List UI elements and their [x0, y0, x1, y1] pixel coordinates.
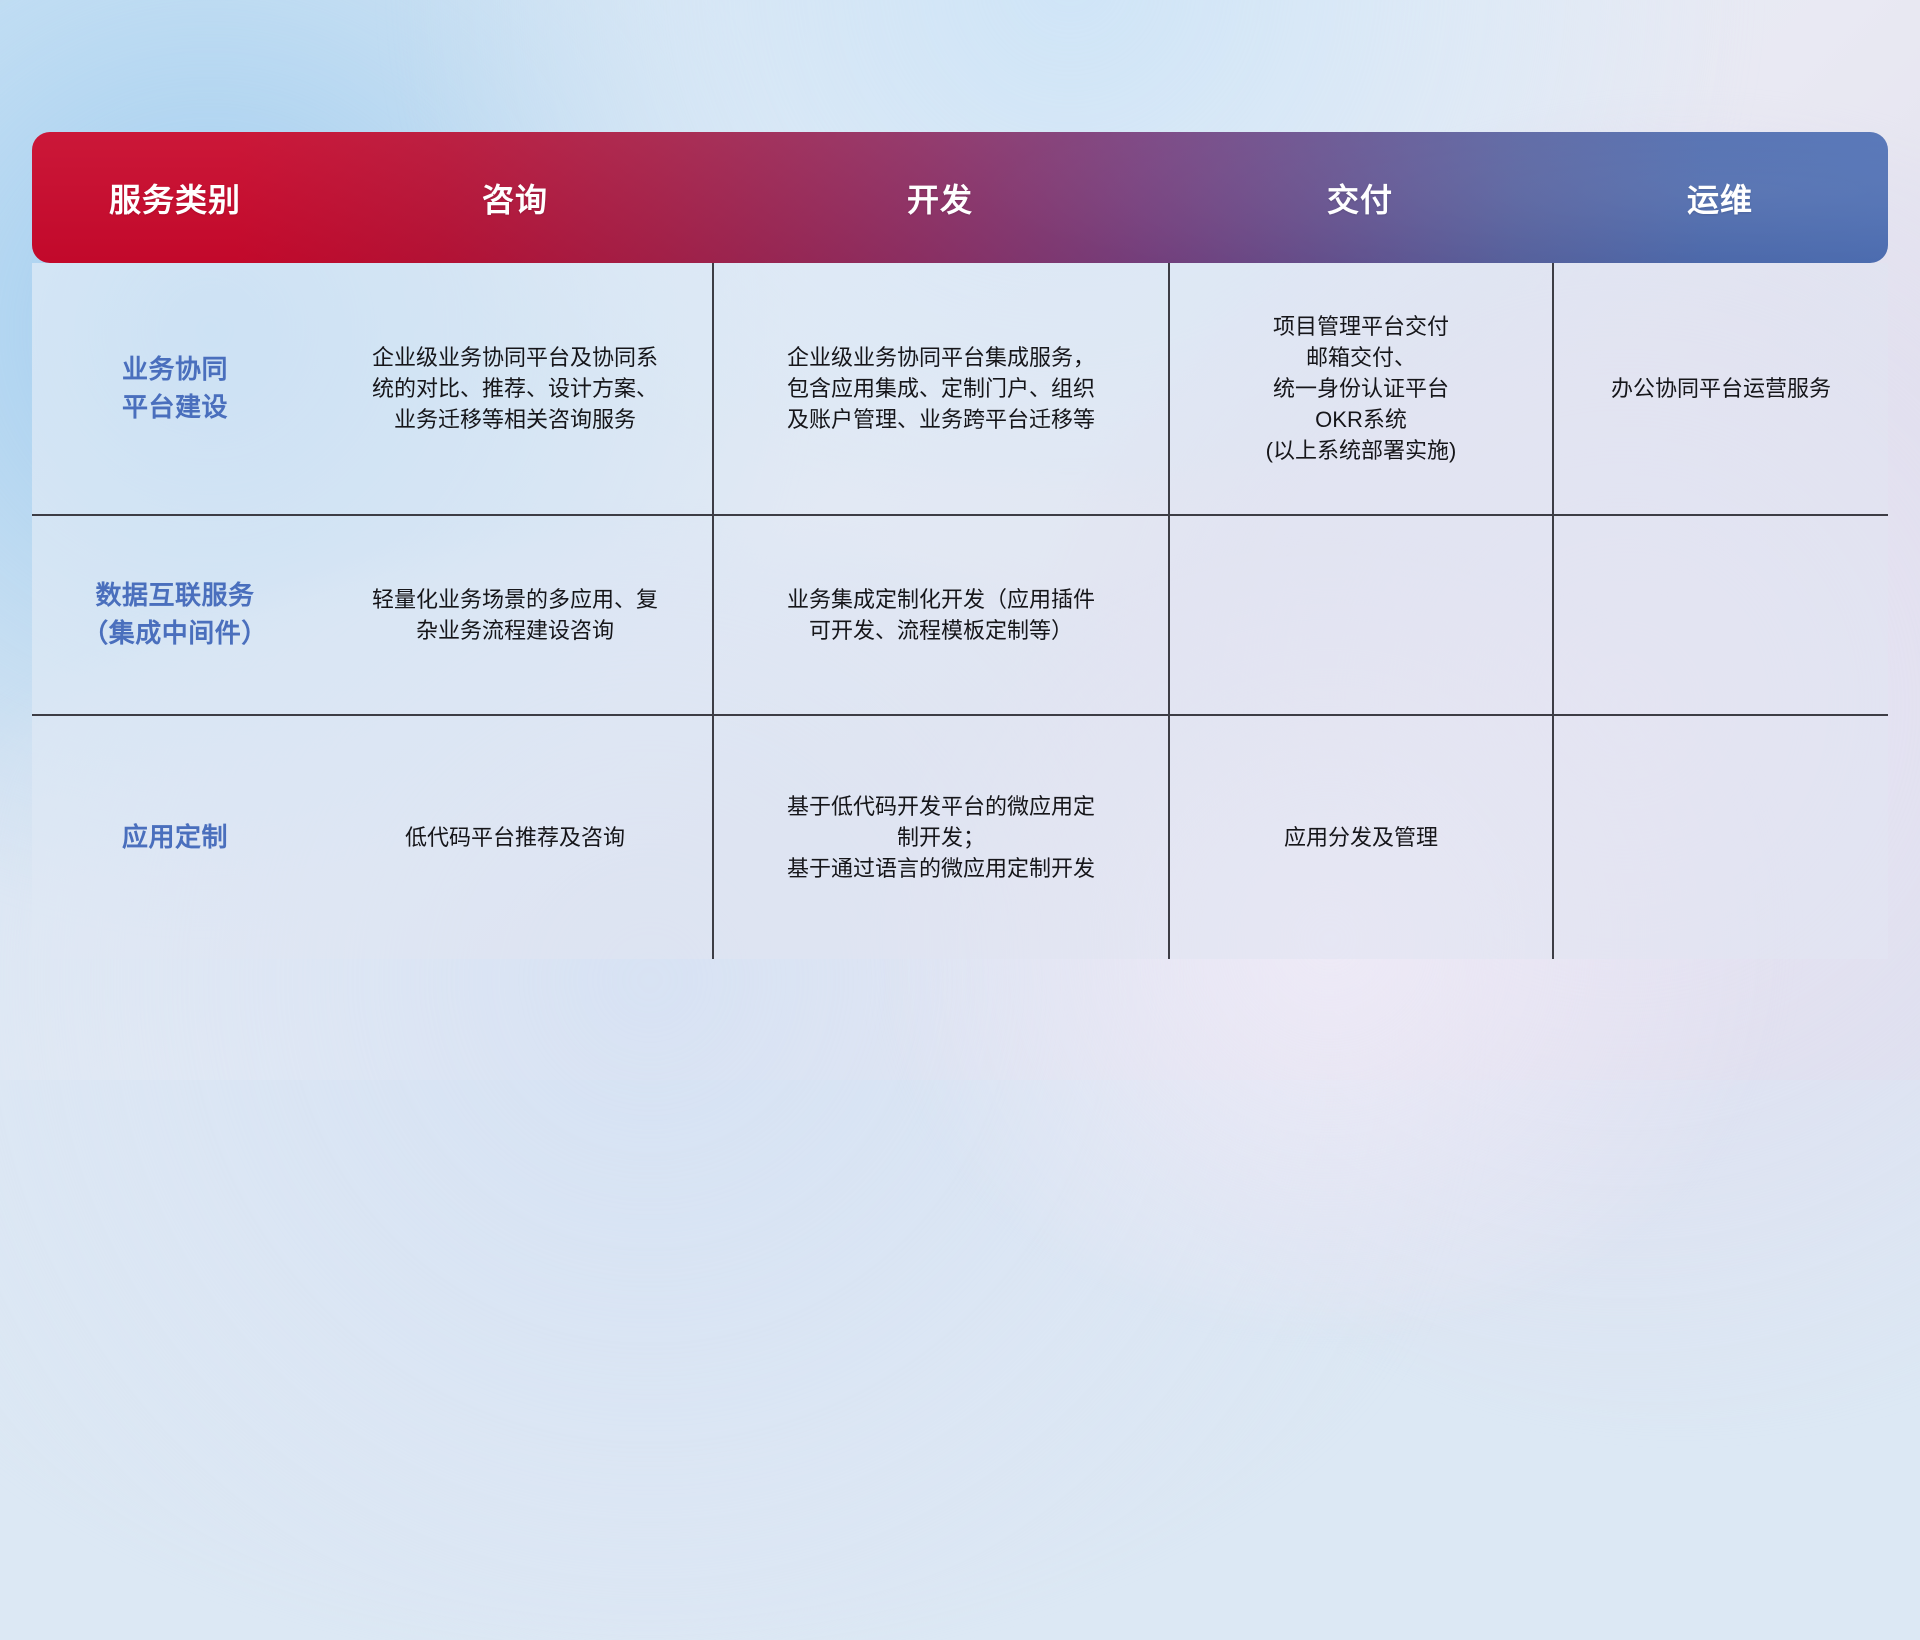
- table-header-row: 服务类别 咨询 开发 交付 运维: [32, 132, 1888, 263]
- cell-operations: [1552, 716, 1888, 959]
- row-category-label: 应用定制: [32, 716, 318, 959]
- cell-consulting: 低代码平台推荐及咨询: [318, 716, 712, 959]
- column-divider: [712, 263, 714, 959]
- header-label: 咨询: [482, 175, 548, 221]
- header-label: 运维: [1687, 175, 1753, 221]
- cell-delivery: [1168, 516, 1552, 713]
- table-header-delivery: 交付: [1168, 132, 1552, 263]
- header-label: 服务类别: [109, 175, 241, 221]
- cell-consulting: 企业级业务协同平台及协同系 统的对比、推荐、设计方案、 业务迁移等相关咨询服务: [318, 263, 712, 514]
- table-header-consulting: 咨询: [318, 132, 712, 263]
- cell-development: 企业级业务协同平台集成服务， 包含应用集成、定制门户、组织 及账户管理、业务跨平…: [712, 263, 1168, 514]
- cell-delivery: 项目管理平台交付 邮箱交付、 统一身份认证平台 OKR系统 (以上系统部署实施): [1168, 263, 1552, 514]
- cell-development: 基于低代码开发平台的微应用定 制开发； 基于通过语言的微应用定制开发: [712, 716, 1168, 959]
- table-row: 业务协同 平台建设 企业级业务协同平台及协同系 统的对比、推荐、设计方案、 业务…: [32, 263, 1888, 514]
- cell-operations: 办公协同平台运营服务: [1552, 263, 1888, 514]
- table-row: 应用定制 低代码平台推荐及咨询 基于低代码开发平台的微应用定 制开发； 基于通过…: [32, 714, 1888, 959]
- table-header-service-category: 服务类别: [32, 132, 318, 263]
- table-body: 业务协同 平台建设 企业级业务协同平台及协同系 统的对比、推荐、设计方案、 业务…: [32, 263, 1888, 959]
- cell-delivery: 应用分发及管理: [1168, 716, 1552, 959]
- header-label: 开发: [907, 175, 973, 221]
- table-row: 数据互联服务 （集成中间件） 轻量化业务场景的多应用、复 杂业务流程建设咨询 业…: [32, 514, 1888, 713]
- table-header-operations: 运维: [1552, 132, 1888, 263]
- cell-development: 业务集成定制化开发（应用插件 可开发、流程模板定制等）: [712, 516, 1168, 713]
- table-header-development: 开发: [712, 132, 1168, 263]
- row-category-label: 业务协同 平台建设: [32, 263, 318, 514]
- column-divider: [1552, 263, 1554, 959]
- cell-consulting: 轻量化业务场景的多应用、复 杂业务流程建设咨询: [318, 516, 712, 713]
- column-divider: [1168, 263, 1170, 959]
- service-matrix-table: 服务类别 咨询 开发 交付 运维 业务协同 平台建设 企业级业务协同平台及协同系…: [32, 132, 1888, 959]
- header-label: 交付: [1327, 175, 1393, 221]
- cell-operations: [1552, 516, 1888, 713]
- row-category-label: 数据互联服务 （集成中间件）: [32, 516, 318, 713]
